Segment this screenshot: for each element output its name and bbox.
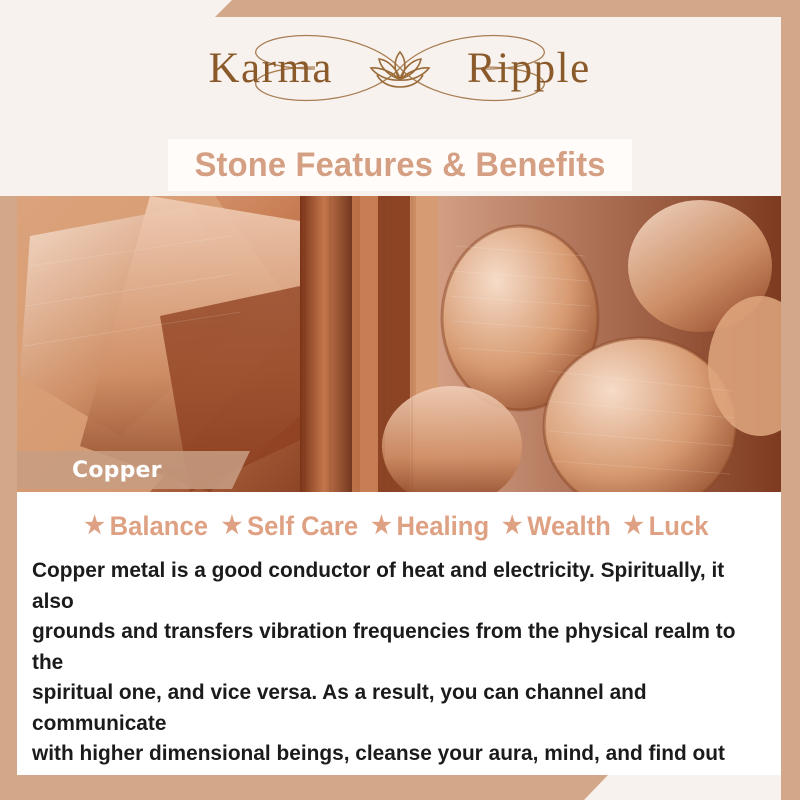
frame-accent-left [0, 196, 17, 800]
description-text: Copper metal is a good conductor of heat… [32, 555, 743, 800]
star-icon: ★ [623, 514, 643, 538]
description-line: spiritual one, and vice versa. As a resu… [32, 677, 743, 738]
photo-caption-band: Copper [0, 451, 250, 489]
brand-logo-svg: Karma Ripple [165, 25, 635, 111]
description-line: Copper metal is a good conductor of heat… [32, 555, 743, 616]
brand-logo: Karma Ripple [0, 28, 800, 108]
benefit-label: Wealth [528, 511, 612, 542]
copper-rods-illustration [0, 196, 781, 492]
star-icon: ★ [221, 514, 241, 538]
title-band: Stone Features & Benefits [168, 139, 632, 191]
infographic-root: Karma Ripple Stone Features & Benefits [0, 0, 800, 800]
frame-accent-right [781, 0, 800, 800]
brand-name-left: Karma [209, 45, 334, 92]
brand-name-right: Ripple [467, 45, 591, 92]
benefit-label: Luck [648, 511, 708, 542]
page-title: Stone Features & Benefits [194, 146, 605, 185]
copper-rods-photo [0, 196, 781, 492]
benefit-label: Self Care [247, 511, 358, 542]
benefit-item: ★ Wealth [502, 511, 617, 542]
frame-accent-top [215, 0, 800, 17]
header: Karma Ripple [0, 0, 800, 132]
lotus-icon [371, 52, 429, 87]
benefit-label: Healing [397, 511, 490, 542]
benefit-item: ★ Self Care [221, 511, 364, 542]
benefit-label: Balance [109, 511, 207, 542]
photo-caption-label: Copper [72, 458, 162, 483]
benefit-item: ★ Luck [623, 511, 715, 542]
content-card: ★ Balance ★ Self Care ★ Healing ★ Wealth… [17, 492, 781, 775]
frame-accent-bottom [0, 775, 608, 800]
benefits-list: ★ Balance ★ Self Care ★ Healing ★ Wealth… [17, 502, 781, 550]
benefit-item: ★ Healing [372, 511, 496, 542]
star-icon: ★ [502, 514, 522, 538]
description-line: grounds and transfers vibration frequenc… [32, 616, 743, 677]
star-icon: ★ [372, 514, 392, 538]
star-icon: ★ [84, 514, 104, 538]
benefit-item: ★ Balance [84, 511, 214, 542]
